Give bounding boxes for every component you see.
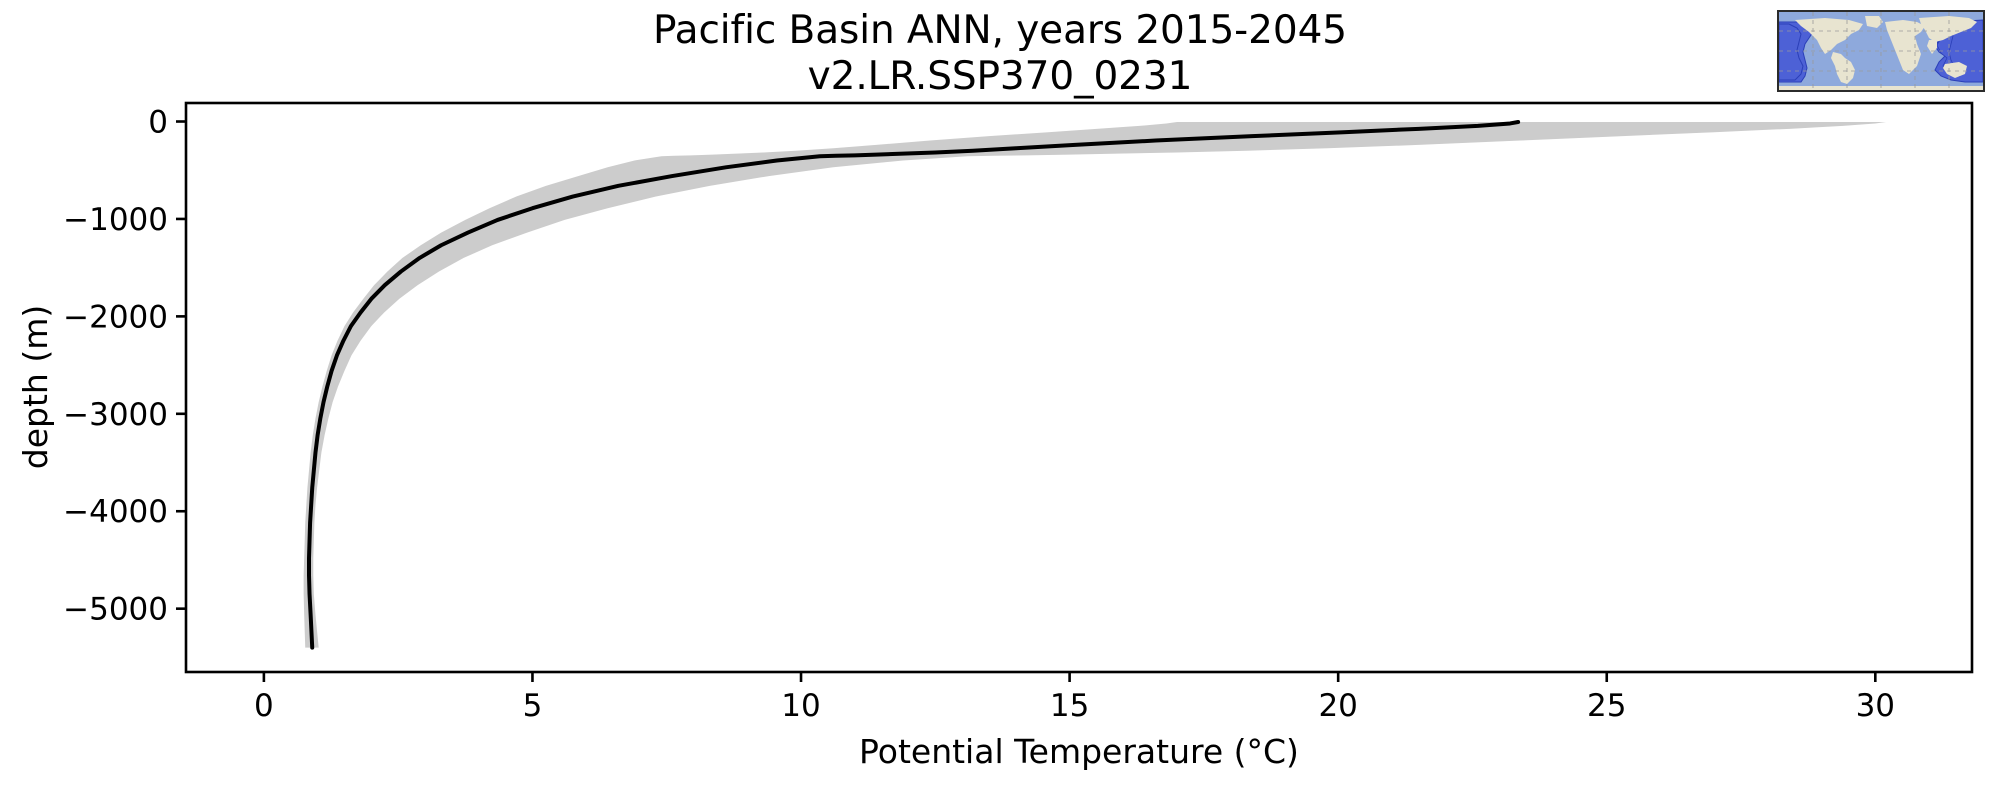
x-axis-title: Potential Temperature (°C) [859, 732, 1299, 771]
x-tick-label: 20 [1318, 688, 1357, 724]
x-tick-label: 0 [254, 688, 274, 724]
y-tick-label: 0 [148, 105, 168, 141]
y-tick-label: −3000 [63, 397, 168, 433]
y-tick-label: −5000 [63, 592, 168, 628]
x-tick-label: 30 [1856, 688, 1895, 724]
x-tick-label: 5 [523, 688, 543, 724]
y-tick-label: −2000 [63, 299, 168, 335]
locator-map-graphic [1779, 12, 1983, 90]
x-axis-ticks: 051015202530 [254, 672, 1895, 724]
figure-canvas: Pacific Basin ANN, years 2015-2045 v2.LR… [0, 0, 2000, 800]
x-tick-label: 15 [1050, 688, 1089, 724]
pacific-basin-locator-map [1777, 10, 1985, 92]
y-tick-label: −4000 [63, 494, 168, 530]
plot-area-background [186, 103, 1972, 672]
y-axis-ticks: 0−1000−2000−3000−4000−5000 [63, 105, 186, 628]
profile-plot: 051015202530 0−1000−2000−3000−4000−5000 … [0, 0, 2000, 800]
x-tick-label: 10 [781, 688, 820, 724]
y-axis-title: depth (m) [16, 305, 55, 469]
y-tick-label: −1000 [63, 202, 168, 238]
x-tick-label: 25 [1587, 688, 1626, 724]
